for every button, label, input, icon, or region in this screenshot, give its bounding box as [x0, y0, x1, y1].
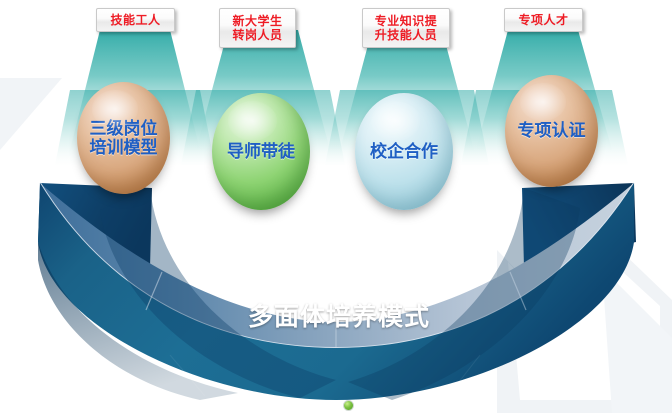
sphere-school-enterprise[interactable]: 校企合作	[355, 93, 453, 210]
accent-dot	[343, 400, 354, 411]
callout-line: 专项人才	[518, 13, 568, 27]
callout-line: 技能工人	[110, 13, 160, 27]
callout-line: 升技能人员	[375, 28, 438, 42]
sphere-line: 校企合作	[370, 142, 438, 161]
callout-line: 转岗人员	[232, 28, 282, 42]
diagram-canvas: 技能工人 新大学生 转岗人员 专业知识提 升技能人员 专项人才	[0, 0, 672, 413]
sphere-line: 培训模型	[90, 138, 158, 157]
sphere-mentor-apprentice[interactable]: 导师带徒	[212, 93, 310, 210]
sphere-line: 三级岗位	[90, 119, 158, 138]
callout-professional-upskill[interactable]: 专业知识提 升技能人员	[362, 8, 450, 48]
callout-new-graduates[interactable]: 新大学生 转岗人员	[219, 8, 296, 48]
callout-line: 新大学生	[232, 14, 282, 28]
sphere-line: 专项认证	[518, 121, 586, 140]
bowl-shape	[0, 150, 672, 413]
sphere-three-tier-training-model[interactable]: 三级岗位 培训模型	[77, 82, 170, 194]
callout-skilled-workers[interactable]: 技能工人	[96, 8, 175, 32]
callout-specialized-talent[interactable]: 专项人才	[504, 8, 583, 32]
bowl-title: 多面体培养模式	[248, 297, 430, 333]
sphere-line: 导师带徒	[227, 142, 295, 161]
callout-line: 专业知识提	[375, 14, 438, 28]
sphere-specialized-certification[interactable]: 专项认证	[505, 75, 598, 187]
